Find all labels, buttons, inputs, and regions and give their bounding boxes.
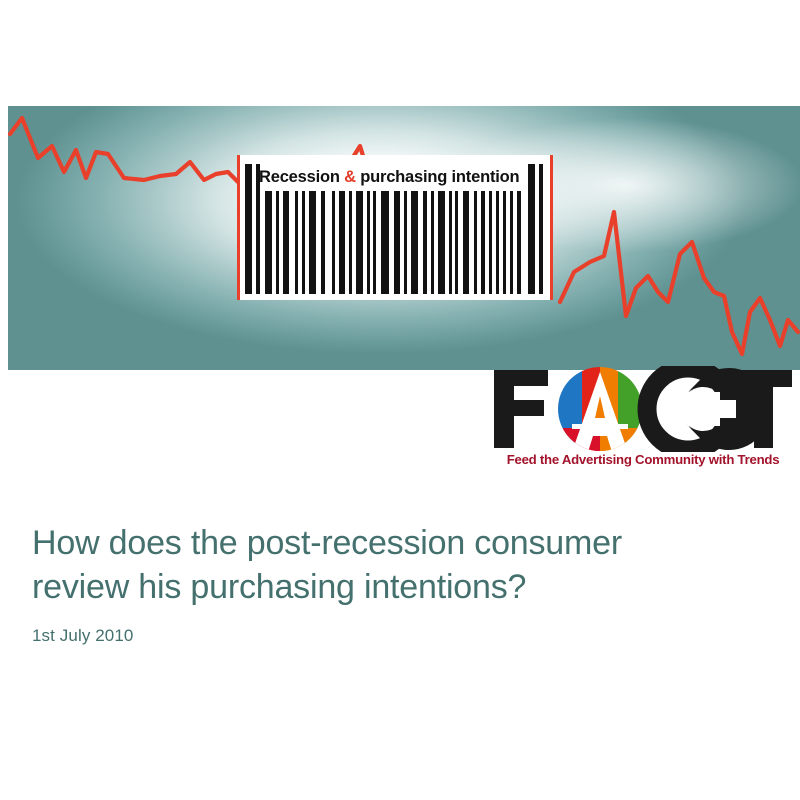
- fact-letter-f: [494, 370, 548, 448]
- page-title-line-1: How does the post-recession consumer: [32, 521, 772, 565]
- fact-letter-a-circle: [558, 367, 644, 452]
- barcode-bar: [394, 191, 400, 294]
- barcode-bar: [339, 191, 345, 294]
- barcode-guard-bar: [256, 164, 260, 294]
- barcode-bar: [481, 191, 485, 294]
- barcode-title-prefix: Recession: [259, 168, 344, 186]
- barcode-bar: [496, 191, 499, 294]
- barcode-bar: [283, 191, 289, 294]
- fact-tagline: Feed the Advertising Community with Tren…: [493, 452, 793, 467]
- barcode-bar: [517, 191, 521, 294]
- barcode-bar: [474, 191, 477, 294]
- trend-line-right: [560, 212, 798, 354]
- barcode-bar: [295, 191, 298, 294]
- barcode-bar: [381, 191, 389, 294]
- barcode-title: Recession & purchasing intention: [259, 164, 535, 190]
- hero-banner: Recession & purchasing intention: [8, 106, 800, 370]
- barcode-graphic: Recession & purchasing intention: [237, 155, 553, 300]
- barcode-bar: [463, 191, 469, 294]
- barcode-bar: [302, 191, 305, 294]
- barcode-bar: [404, 191, 407, 294]
- fact-logo: Feed the Advertising Community with Tren…: [492, 366, 792, 478]
- barcode-bar: [309, 191, 316, 294]
- page-title: How does the post-recession consumer rev…: [32, 521, 772, 609]
- barcode-bar: [276, 191, 279, 294]
- barcode-bar: [423, 191, 427, 294]
- barcode-bar: [510, 191, 513, 294]
- barcode-bar: [265, 191, 272, 294]
- barcode-bar: [503, 191, 506, 294]
- barcode-title-suffix: purchasing intention: [356, 168, 520, 186]
- barcode-bars: [245, 191, 545, 294]
- barcode-bar: [367, 191, 370, 294]
- title-block: How does the post-recession consumer rev…: [32, 521, 772, 646]
- barcode-guard-bar: [528, 164, 535, 294]
- barcode-bar: [321, 191, 325, 294]
- barcode-bar: [438, 191, 445, 294]
- barcode-bar: [431, 191, 434, 294]
- barcode-bar: [489, 191, 492, 294]
- barcode-bar: [449, 191, 452, 294]
- fact-wordmark: [492, 366, 792, 452]
- barcode-left-edge-line: [237, 155, 240, 300]
- barcode-bar: [373, 191, 376, 294]
- barcode-guard-bar: [539, 164, 543, 294]
- barcode-right-edge-line: [550, 155, 553, 300]
- barcode-bar: [356, 191, 363, 294]
- barcode-bar: [349, 191, 352, 294]
- barcode-bar: [332, 191, 335, 294]
- barcode-title-ampersand: &: [344, 168, 356, 186]
- page-title-line-2: review his purchasing intentions?: [32, 565, 772, 609]
- presentation-date: 1st July 2010: [32, 626, 772, 646]
- barcode-bar: [411, 191, 418, 294]
- barcode-bar: [455, 191, 458, 294]
- barcode-guard-bar: [245, 164, 252, 294]
